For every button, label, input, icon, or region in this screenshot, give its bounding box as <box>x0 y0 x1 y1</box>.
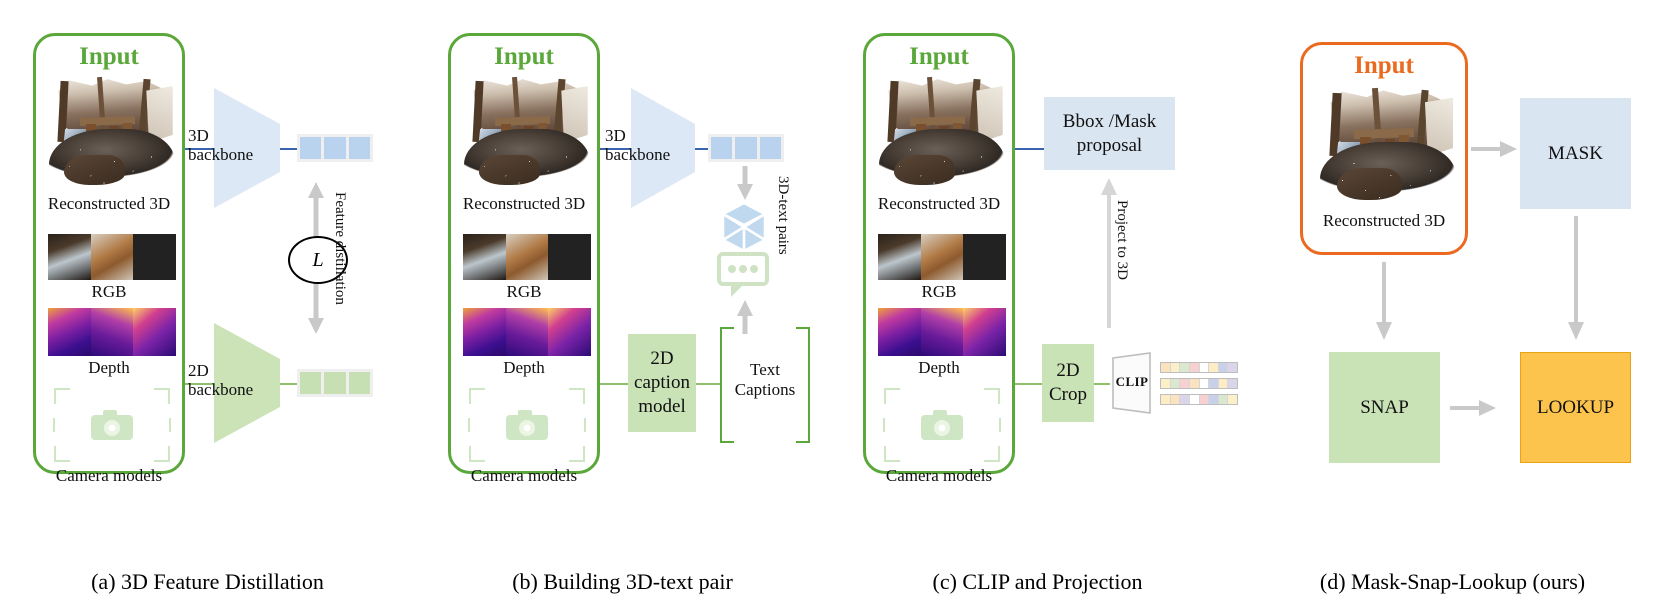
reconstructed-3d-thumb-c <box>876 72 1008 190</box>
line-crop-in-c <box>1015 383 1043 385</box>
arrow-input-to-mask-d <box>1471 140 1517 158</box>
line-2d-out-b <box>696 383 722 385</box>
input-card-a: Input Reconstructed 3D RGB Depth <box>33 33 185 474</box>
rgb-thumb-b <box>463 234 591 280</box>
clip-feature-strip-row-1 <box>1160 362 1238 373</box>
input-card-b: Input Reconstructed 3D RGB Depth <box>448 33 600 474</box>
arrow-tokens-to-cube-b <box>736 166 754 200</box>
input-card-c: Input Reconstructed 3D RGB Depth <box>863 33 1015 474</box>
feature-distillation-label-a: Feature distillation <box>331 192 348 305</box>
reconstructed-3d-label-b: Reconstructed 3D <box>451 194 597 214</box>
bracket-right-b <box>796 327 810 443</box>
panel-c: Input Reconstructed 3D RGB Depth <box>830 0 1245 609</box>
reconstructed-3d-label-d: Reconstructed 3D <box>1303 211 1465 231</box>
input-title-d: Input <box>1303 52 1465 80</box>
line-2d-out-a <box>280 383 298 385</box>
speech-bubble-icon-b <box>717 252 771 300</box>
input-title-c: Input <box>866 43 1012 71</box>
bracket-left-b <box>720 327 734 443</box>
input-card-d: Input Reconstructed 3D <box>1300 42 1468 255</box>
panel-d: Input Reconstructed 3D MASK SNAP <box>1245 0 1660 609</box>
2d-feature-tokens-a <box>297 369 373 397</box>
3d-backbone-label-line1: 3D backbone <box>188 126 253 164</box>
line-3d-out-a <box>280 148 298 150</box>
reconstructed-3d-thumb-b <box>461 72 593 190</box>
caption-d: (d) Mask-Snap-Lookup (ours) <box>1245 569 1660 595</box>
mask-block-d: MASK <box>1520 98 1631 209</box>
line-proposal-in-c <box>1015 148 1045 150</box>
camera-icon-a <box>54 388 170 462</box>
arrow-captions-to-bubble-b <box>736 300 754 334</box>
depth-thumb-a <box>48 308 176 356</box>
input-title-b: Input <box>451 43 597 71</box>
snap-block-d: SNAP <box>1329 352 1440 463</box>
reconstructed-3d-thumb-d <box>1317 83 1459 205</box>
project-to-3d-label-c: Project to 3D <box>1113 200 1130 280</box>
arrow-input-to-snap-d <box>1375 262 1393 340</box>
depth-thumb-b <box>463 308 591 356</box>
camera-models-label-a: Camera models <box>36 466 182 486</box>
2d-backbone-label-line1: 2D backbone <box>188 361 253 399</box>
camera-models-label-b: Camera models <box>451 466 597 486</box>
panel-a: Input Reconstructed 3D RGB Depth <box>0 0 415 609</box>
rgb-label-a: RGB <box>36 282 182 302</box>
line-3d-out-b <box>695 148 709 150</box>
rgb-thumb-c <box>878 234 1006 280</box>
caption-a: (a) 3D Feature Distillation <box>0 569 415 595</box>
clip-feature-strip-row-2 <box>1160 378 1238 389</box>
depth-label-c: Depth <box>866 358 1012 378</box>
3d-feature-tokens-a <box>297 134 373 162</box>
text-captions-label-b: Text Captions <box>733 360 797 401</box>
panel-b: Input Reconstructed 3D RGB Depth <box>415 0 830 609</box>
3d-backbone-label-b: 3D backbone <box>605 126 675 164</box>
camera-models-label-c: Camera models <box>866 466 1012 486</box>
line-2d-in-b <box>600 383 628 385</box>
rgb-thumb-a <box>48 234 176 280</box>
arrow-snap-to-lookup-d <box>1450 399 1496 417</box>
3d-feature-tokens-b <box>708 134 784 162</box>
2d-caption-model-b: 2D caption model <box>628 334 696 432</box>
clip-label-c: CLIP <box>1115 374 1149 390</box>
arrow-mask-to-lookup-d <box>1567 216 1585 340</box>
bbox-mask-proposal-c: Bbox /Mask proposal <box>1044 97 1175 170</box>
figure-root: Input Reconstructed 3D RGB Depth <box>0 0 1661 609</box>
camera-icon-c <box>884 388 1000 462</box>
2d-crop-c: 2D Crop <box>1042 344 1094 422</box>
3d-backbone-label-text-b: 3D backbone <box>605 126 670 164</box>
clip-feature-strip-row-3 <box>1160 394 1238 405</box>
3d-backbone-label-a: 3D backbone <box>188 126 258 164</box>
input-title-a: Input <box>36 43 182 71</box>
depth-label-a: Depth <box>36 358 182 378</box>
cube-3d-icon-b <box>715 198 773 256</box>
reconstructed-3d-thumb-a <box>46 72 178 190</box>
rgb-label-c: RGB <box>866 282 1012 302</box>
reconstructed-3d-label-c: Reconstructed 3D <box>866 194 1012 214</box>
caption-b: (b) Building 3D-text pair <box>415 569 830 595</box>
lookup-block-d: LOOKUP <box>1520 352 1631 463</box>
reconstructed-3d-label-a: Reconstructed 3D <box>36 194 182 214</box>
depth-label-b: Depth <box>451 358 597 378</box>
rgb-label-b: RGB <box>451 282 597 302</box>
depth-thumb-c <box>878 308 1006 356</box>
3d-text-pairs-label-b: 3D-text pairs <box>774 176 791 255</box>
line-crop-out-c <box>1094 383 1110 385</box>
camera-icon-b <box>469 388 585 462</box>
2d-backbone-label-a: 2D backbone <box>188 361 258 399</box>
caption-c: (c) CLIP and Projection <box>830 569 1245 595</box>
